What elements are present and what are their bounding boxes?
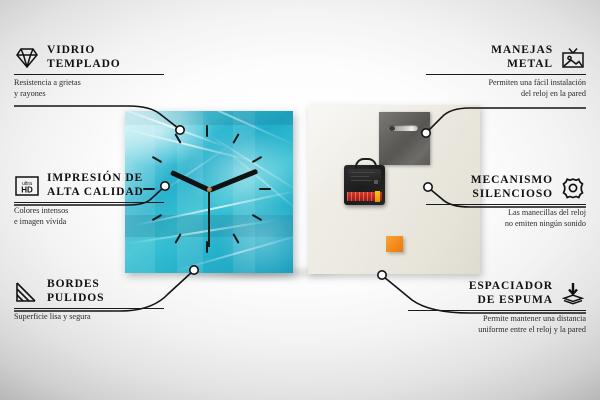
gear-icon — [560, 176, 586, 200]
feature-desc-line2: y rayones — [14, 89, 164, 100]
polished-edges-icon — [14, 280, 40, 304]
feature-title-line2: ALTA CALIDAD — [47, 186, 144, 200]
feature-title-line2: PULIDOS — [47, 292, 104, 306]
feature-title-line2: DE ESPUMA — [469, 294, 553, 308]
feature-rule — [14, 202, 164, 203]
feature-rule — [408, 310, 586, 311]
feature-title-line1: IMPRESIÓN DE — [47, 172, 144, 186]
feature-rule — [14, 308, 164, 309]
clock-center-pin — [207, 187, 212, 192]
metal-hanger-plate — [379, 112, 430, 165]
foam-spacer — [386, 236, 403, 252]
feature-desc-line1: Permite mantener una distancia — [408, 314, 586, 325]
mechanism-body — [348, 169, 381, 186]
feature-desc-line1: Permiten una fácil instalación — [426, 78, 586, 89]
feature-manejas-metal: MANEJAS METAL Permiten una fácil instala… — [426, 44, 586, 99]
quartz-mechanism — [344, 165, 385, 205]
diamond-icon — [14, 46, 40, 70]
second-hand — [208, 189, 209, 247]
feature-rule — [426, 74, 586, 75]
clock-tick — [206, 125, 208, 137]
feature-impresion-alta-calidad: ultra HD IMPRESIÓN DE ALTA CALIDAD Color… — [14, 172, 164, 227]
feature-desc-line1: Resistencia a grietas — [14, 78, 164, 89]
feature-desc-line2: no emiten ningún sonido — [426, 219, 586, 230]
infographic-canvas: VIDRIO TEMPLADO Resistencia a grietas y … — [0, 0, 600, 400]
feature-title-line1: MANEJAS — [491, 44, 553, 58]
feature-bordes-pulidos: BORDES PULIDOS Superficie lisa y segura — [14, 278, 164, 323]
feature-desc-line2: e imagen vívida — [14, 217, 164, 228]
feature-title-line1: VIDRIO — [47, 44, 121, 58]
feature-title-line2: SILENCIOSO — [471, 188, 553, 202]
feature-title-line1: BORDES — [47, 278, 104, 292]
feature-espaciador-espuma: ESPACIADOR DE ESPUMA Permite mantener un… — [408, 280, 586, 335]
feature-desc-line2: del reloj en la pared — [426, 89, 586, 100]
feature-mecanismo-silencioso: MECANISMO SILENCIOSO Las manecillas del … — [426, 174, 586, 229]
feature-title-line2: METAL — [491, 58, 553, 72]
feature-desc-line2: uniforme entre el reloj y la pared — [408, 325, 586, 336]
ultra-hd-icon: ultra HD — [14, 174, 40, 198]
feature-title-line2: TEMPLADO — [47, 58, 121, 72]
feature-desc-line1: Superficie lisa y segura — [14, 312, 164, 323]
feature-title-line1: MECANISMO — [471, 174, 553, 188]
clock-tick — [259, 188, 271, 190]
svg-text:HD: HD — [21, 185, 33, 194]
foam-spacer-icon — [560, 282, 586, 306]
feature-desc-line1: Colores intensos — [14, 206, 164, 217]
feature-rule — [426, 204, 586, 205]
picture-hanger-icon — [560, 46, 586, 70]
feature-rule — [14, 74, 164, 75]
battery — [347, 192, 382, 201]
feature-vidrio-templado: VIDRIO TEMPLADO Resistencia a grietas y … — [14, 44, 164, 99]
feature-desc-line1: Las manecillas del reloj — [426, 208, 586, 219]
feature-title-line1: ESPACIADOR — [469, 280, 553, 294]
hanger-hole — [389, 126, 395, 131]
